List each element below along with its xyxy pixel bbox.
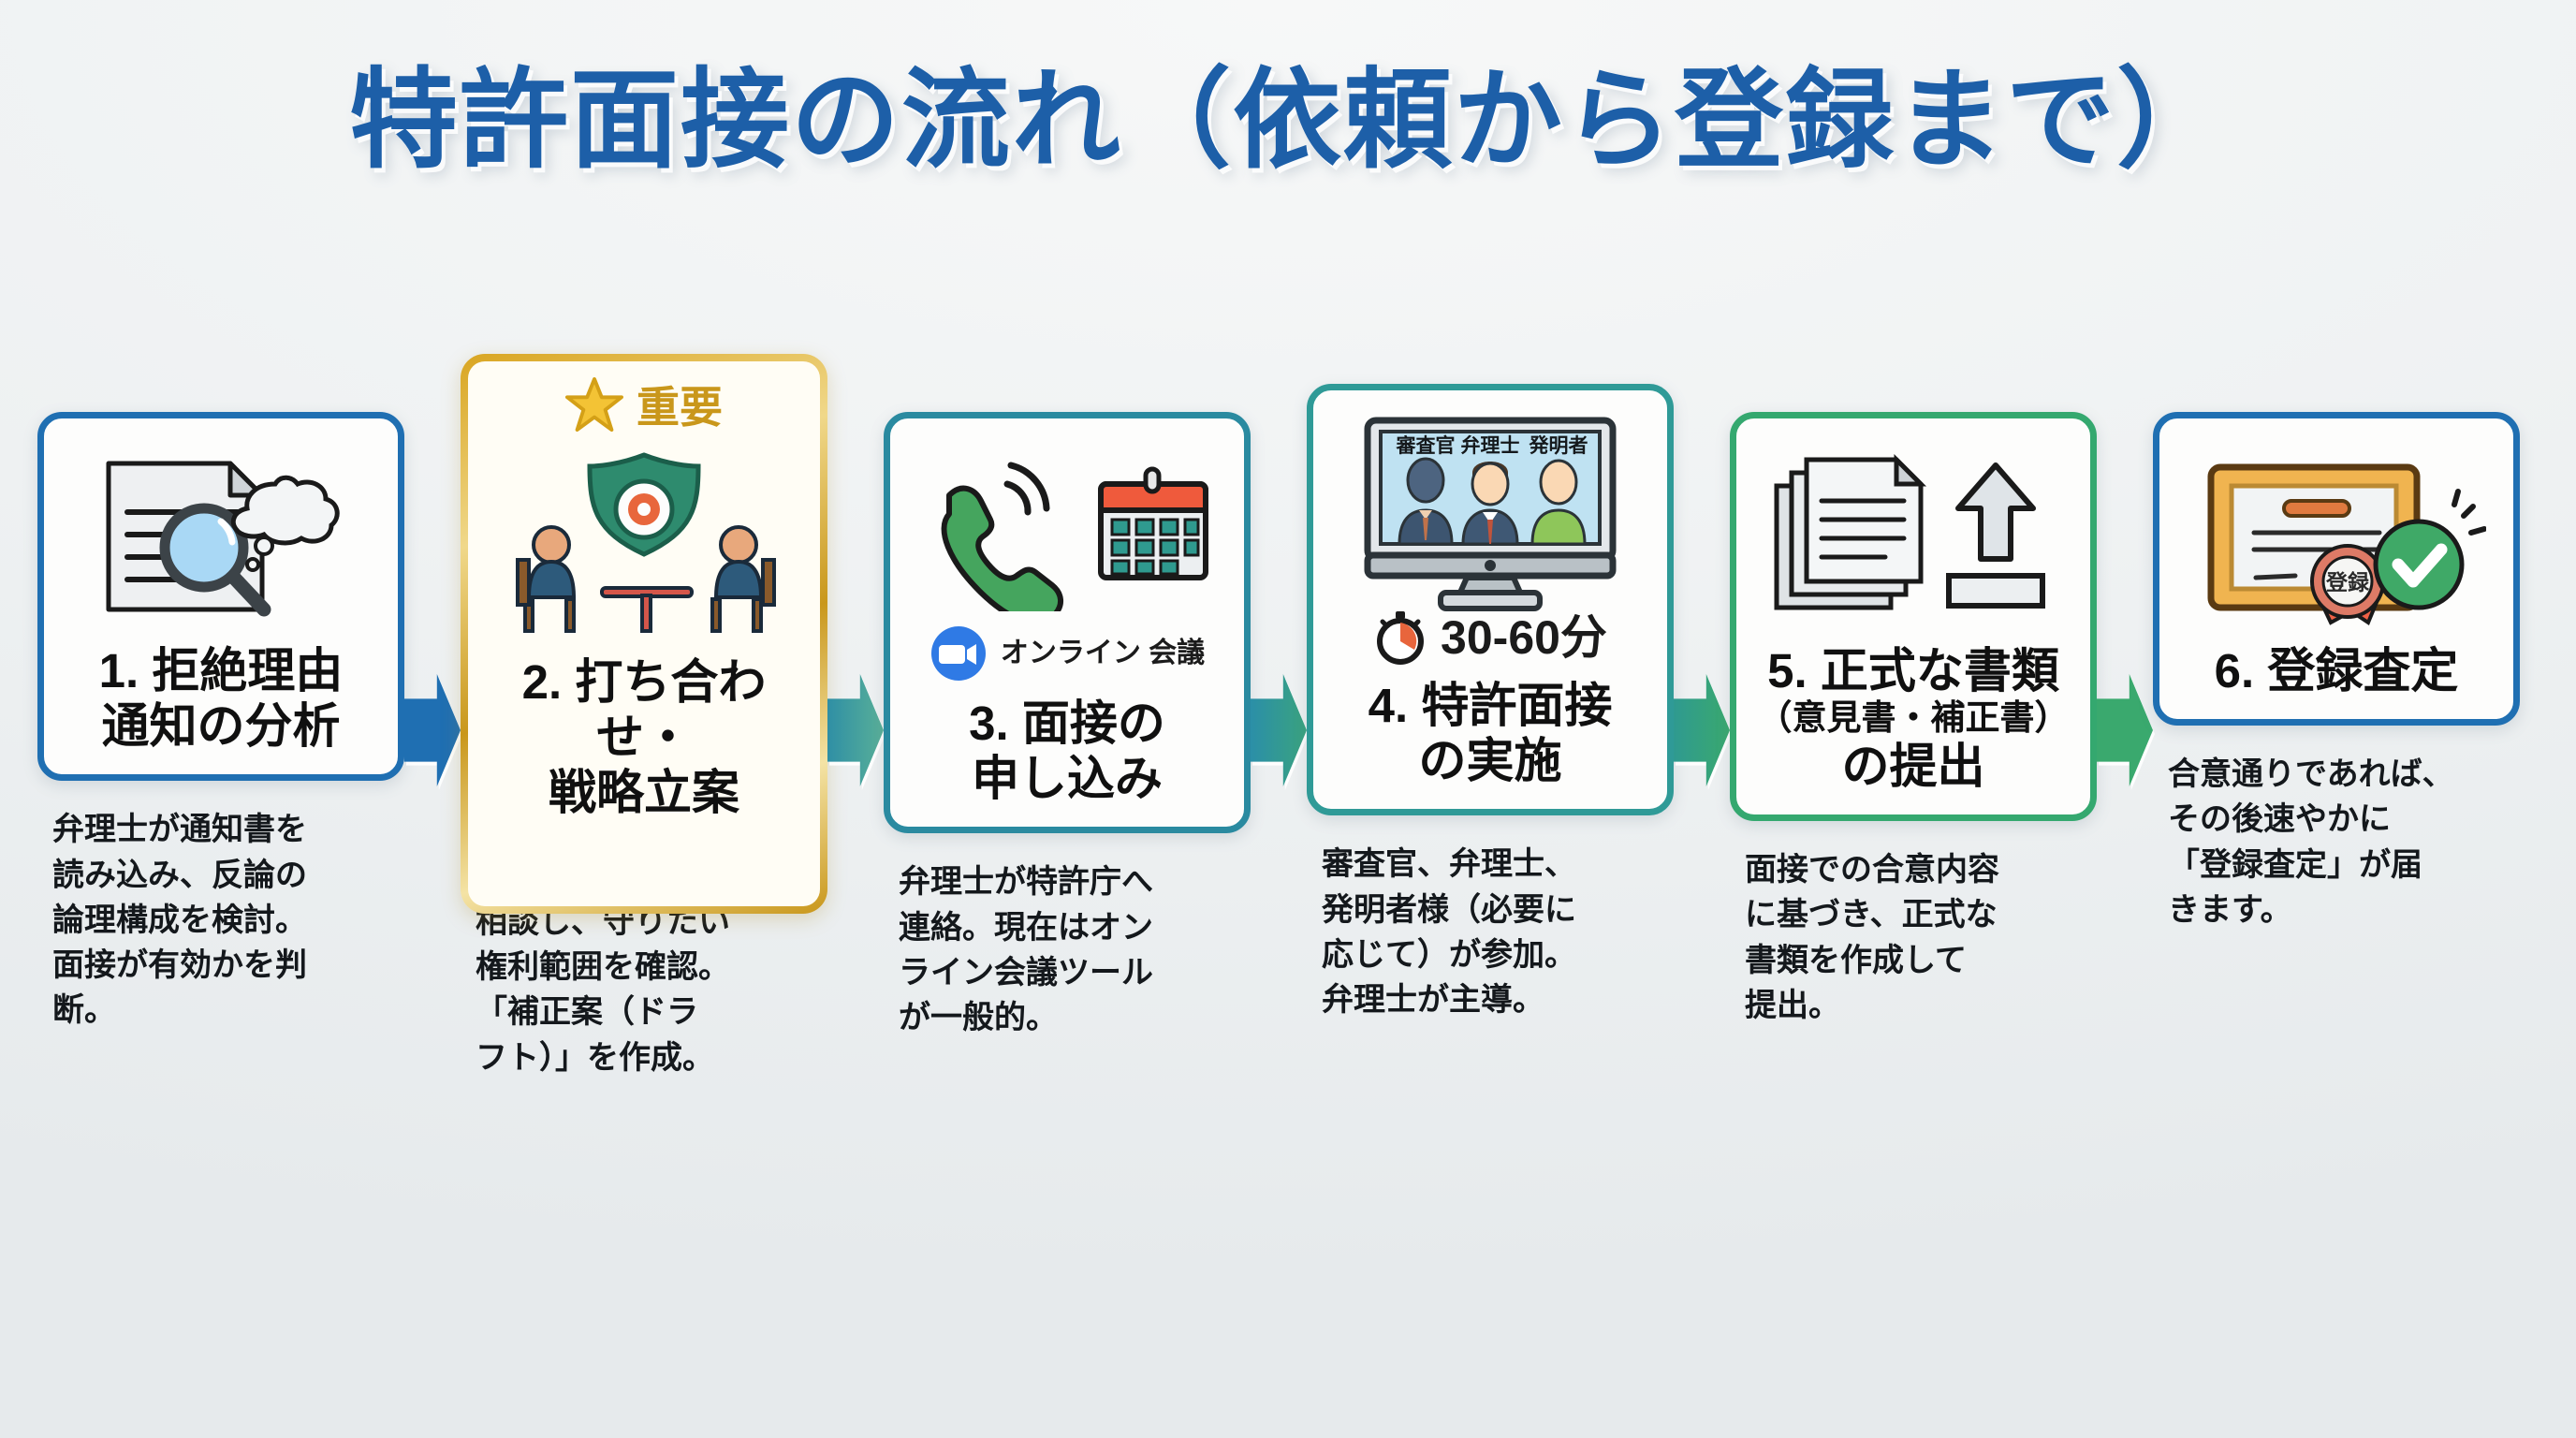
step-4-illustration: 審査官 弁理士 発明者 xyxy=(1328,415,1652,616)
step-6-description: 合意通りであれば、 その後速やかに 「登録査定」が届 きます。 xyxy=(2153,752,2520,932)
stopwatch-icon xyxy=(1373,610,1427,665)
important-badge-label: 重要 xyxy=(637,374,723,435)
screen-label-0: 審査官 xyxy=(1396,434,1456,457)
step-3-title: 3. 面接の 申し込み xyxy=(969,696,1165,806)
arrow-3-body xyxy=(1251,674,1307,786)
documents-stack-icon xyxy=(1777,460,1921,608)
flow-step-2: 重要 xyxy=(461,354,827,1080)
flow-arrow-1 xyxy=(404,674,461,786)
shield-target-icon xyxy=(590,455,698,554)
step-6-title: 6. 登録査定 xyxy=(2215,643,2459,698)
step-card-6: 登録 6. 登録査定 xyxy=(2153,412,2520,726)
flow-step-5: 5. 正式な書類（意見書・補正書）の提出 面接での合意内容 に基づき、正式な 書… xyxy=(1730,412,2097,1028)
step-2-title: 2. 打ち合わせ・ 戦略立案 xyxy=(483,654,805,820)
step-5-title-line-2: の提出 xyxy=(1758,739,2070,794)
arrow-4-body xyxy=(1674,674,1730,786)
step-3-description: 弁理士が特許庁へ 連絡。現在はオン ライン会議ツール が一般的。 xyxy=(884,859,1251,1040)
video-camera-icon xyxy=(929,624,988,682)
flow-step-3: オンライン 会議 3. 面接の 申し込み 弁理士が特許庁へ 連絡。現在はオン ラ… xyxy=(884,412,1251,1040)
page-title: 特許面接の流れ（依頼から登録まで） xyxy=(0,32,2576,189)
step-4-title: 4. 特許面接 の実施 xyxy=(1368,678,1613,788)
process-flow: 1. 拒絶理由 通知の分析 弁理士が通知書を 読み込み、反論の 論理構成を検討。… xyxy=(37,412,2539,1236)
step-6-illustration: 登録 xyxy=(2174,443,2498,630)
arrow-2-body xyxy=(827,674,884,786)
phone-ringing-icon xyxy=(944,465,1061,611)
important-badge: 重要 xyxy=(565,369,723,440)
seal-label: 登録 xyxy=(2325,570,2370,594)
registration-seal-icon: 登録 xyxy=(2312,546,2383,623)
flow-step-1: 1. 拒絶理由 通知の分析 弁理士が通知書を 読み込み、反論の 論理構成を検討。… xyxy=(37,412,404,1034)
step-5-title-line-1: （意見書・補正書） xyxy=(1758,698,2070,739)
flow-step-4: 審査官 弁理士 発明者 xyxy=(1307,384,1674,1022)
monitor-video-call-icon: 審査官 弁理士 発明者 xyxy=(1336,415,1645,616)
step-1-description: 弁理士が通知書を 読み込み、反論の 論理構成を検討。 面接が有効かを判 断。 xyxy=(37,807,404,1033)
step-5-title-text: 5. 正式な書類（意見書・補正書）の提出 xyxy=(1758,643,2070,794)
step-3-sublabel: オンライン 会議 xyxy=(929,624,1205,682)
step-card-2: 重要 xyxy=(461,354,827,914)
flow-arrow-5 xyxy=(2097,674,2153,786)
step-4-description: 審査官、弁理士、 発明者様（必要に 応じて）が参加。 弁理士が主導。 xyxy=(1307,842,1674,1022)
step-1-title: 1. 拒絶理由 通知の分析 xyxy=(99,643,344,754)
step-card-1: 1. 拒絶理由 通知の分析 xyxy=(37,412,404,781)
calendar-icon xyxy=(1101,469,1206,578)
step-5-description: 面接での合意内容 に基づき、正式な 書類を作成して 提出。 xyxy=(1730,847,2097,1028)
screen-label-1: 弁理士 xyxy=(1461,434,1520,457)
star-icon xyxy=(565,375,623,433)
step-4-sublabel: 30-60分 xyxy=(1373,610,1607,665)
step-2-illustration xyxy=(483,440,805,641)
flow-step-6: 登録 6. 登録査定 合意通りであれば、 その後速やかに 「登録査定」が届 き xyxy=(2153,412,2520,932)
step-5-title-line-0: 5. 正式な書類 xyxy=(1758,643,2070,698)
step-5-title: 5. 正式な書類（意見書・補正書）の提出 xyxy=(1758,643,2070,794)
step-3-sublabel-text: オンライン 会議 xyxy=(1001,638,1205,668)
flow-arrow-2 xyxy=(827,674,884,786)
step-4-sublabel-text: 30-60分 xyxy=(1441,613,1607,663)
step-5-illustration xyxy=(1751,443,2075,630)
upload-icon xyxy=(1949,465,2042,606)
step-card-4: 審査官 弁理士 発明者 xyxy=(1307,384,1674,815)
step-card-3: オンライン 会議 3. 面接の 申し込み xyxy=(884,412,1251,833)
arrow-5-body xyxy=(2097,674,2153,786)
screen-name-labels: 審査官 弁理士 発明者 xyxy=(1396,434,1588,457)
step-1-illustration xyxy=(59,443,383,630)
arrow-1-body xyxy=(404,674,461,786)
step-3-illustration xyxy=(905,443,1229,630)
flow-arrow-3 xyxy=(1251,674,1307,786)
screen-label-2: 発明者 xyxy=(1529,434,1588,457)
step-card-5: 5. 正式な書類（意見書・補正書）の提出 xyxy=(1730,412,2097,821)
flow-arrow-4 xyxy=(1674,674,1730,786)
